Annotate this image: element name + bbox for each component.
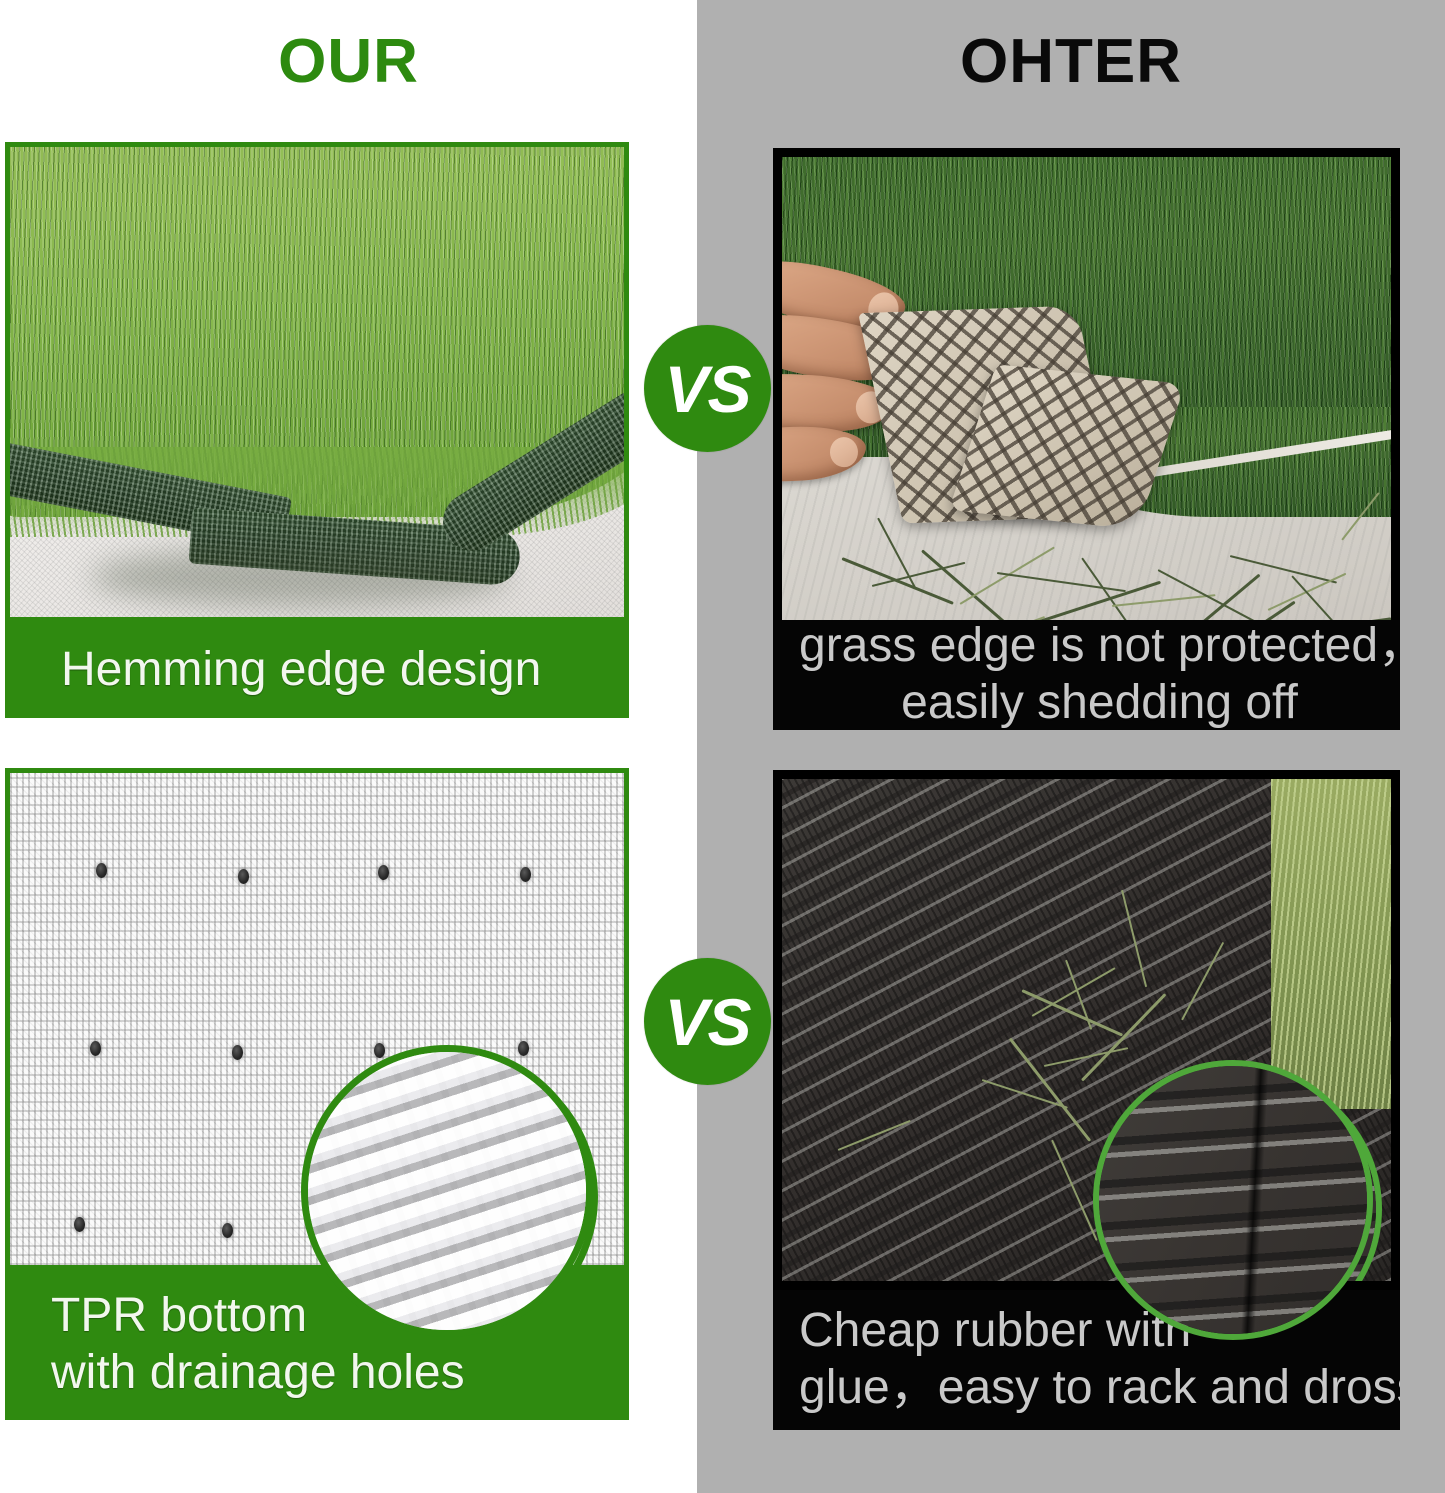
turf-strip	[1271, 779, 1391, 1109]
our-edge-caption: Hemming edge design	[5, 622, 629, 718]
our-edge-photo	[10, 147, 624, 617]
caption-line: glue，easy to rack and dross	[799, 1360, 1400, 1417]
caption-line: with drainage holes	[51, 1345, 629, 1402]
other-backing-zoom-inset-overlay	[1093, 1060, 1373, 1340]
caption-line: easily shedding off	[799, 675, 1400, 730]
fingernail	[829, 437, 858, 468]
edge-shadow	[90, 547, 510, 607]
vs-badge-edge: VS	[644, 325, 771, 452]
other-edge-caption: grass edge is not protected， easily shed…	[773, 620, 1400, 730]
caption-line: Hemming edge design	[61, 642, 629, 699]
our-backing-zoom-inset-overlay	[301, 1045, 593, 1337]
finger-little	[782, 424, 867, 483]
comparison-infographic: OUR OHTER Hemming edge design	[0, 0, 1445, 1493]
other-heading: OHTER	[697, 22, 1445, 102]
caption-line: grass edge is not protected，	[799, 620, 1400, 675]
our-edge-photo-panel	[5, 142, 629, 622]
our-heading: OUR	[0, 22, 697, 102]
vs-badge-backing: VS	[644, 958, 771, 1085]
